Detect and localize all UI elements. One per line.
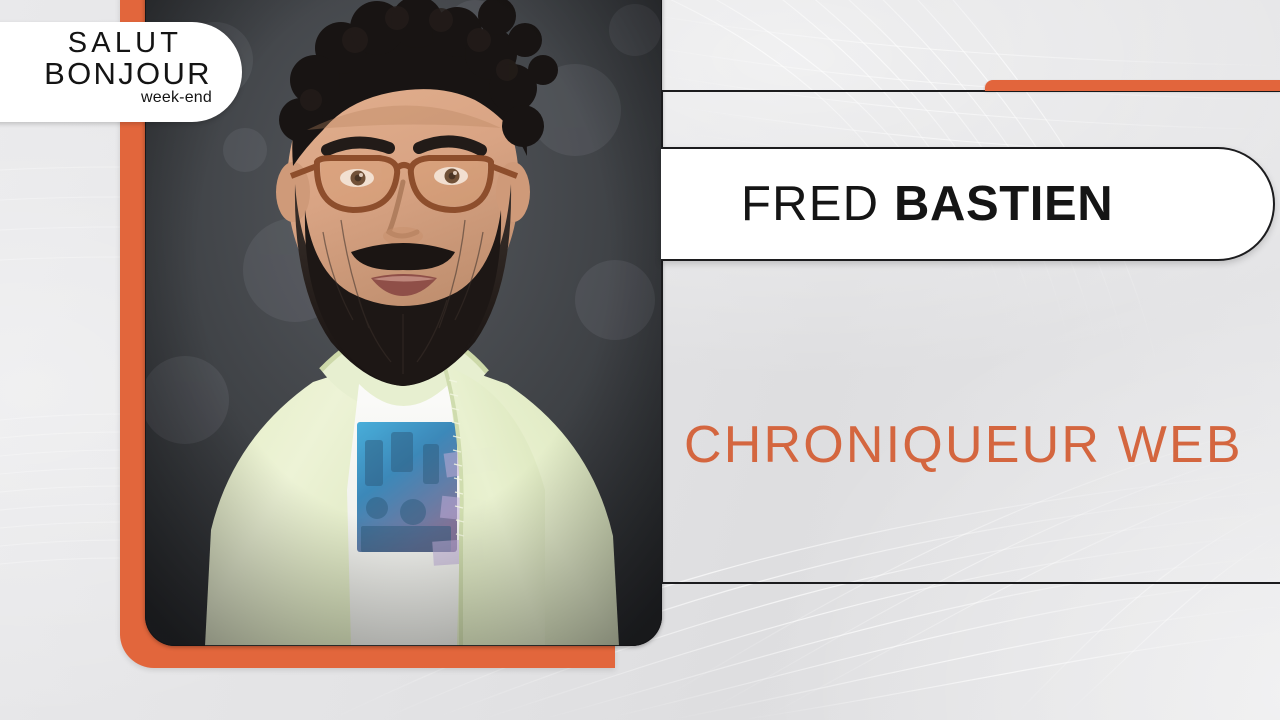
logo-line-bonjour: BONJOUR: [38, 57, 218, 90]
guest-first-name: FRED: [741, 177, 879, 231]
guest-role: CHRONIQUEUR WEB: [684, 415, 1243, 475]
guest-last-name: BASTIEN: [894, 177, 1113, 231]
logo-line-salut: SALUT: [38, 28, 218, 59]
orange-accent-bar: [985, 80, 1280, 91]
guest-name: FRED BASTIEN: [741, 176, 1113, 232]
divider-bottom: [661, 582, 1280, 584]
logo-line-weekend: week-end: [38, 89, 218, 107]
guest-name-pill: FRED BASTIEN: [661, 147, 1275, 261]
broadcast-lower-third-graphic: SALUT BONJOUR week-end FRED BASTIEN CHRO…: [0, 0, 1280, 720]
channel-logo: SALUT BONJOUR week-end: [0, 22, 242, 122]
